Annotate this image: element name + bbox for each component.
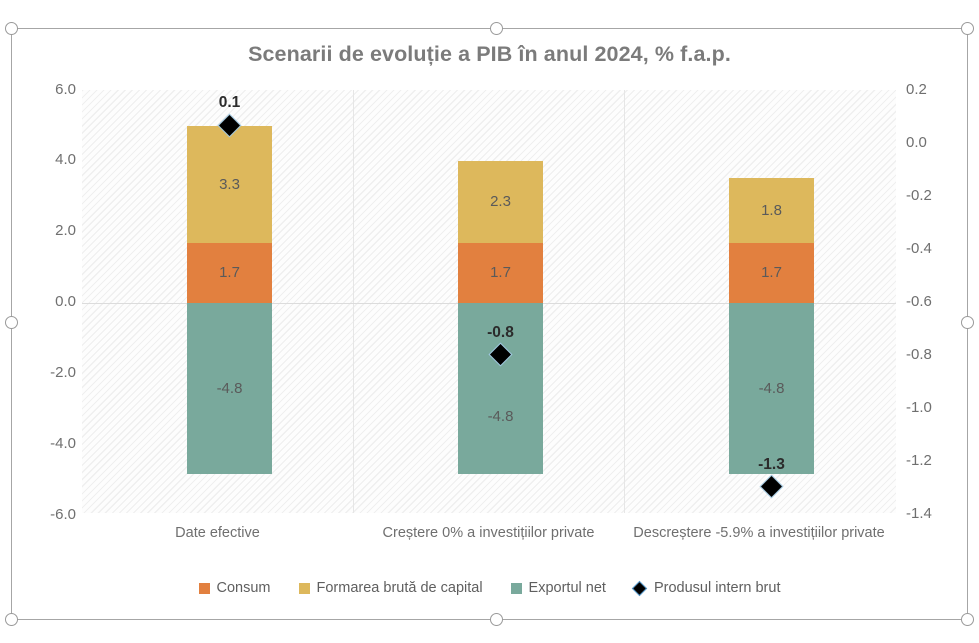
selection-frame[interactable] bbox=[11, 28, 968, 620]
resize-handle-top-right[interactable] bbox=[961, 22, 974, 35]
resize-handle-bottom-center[interactable] bbox=[490, 613, 503, 626]
resize-handle-bottom-right[interactable] bbox=[961, 613, 974, 626]
resize-handle-middle-left[interactable] bbox=[5, 316, 18, 329]
resize-handle-top-left[interactable] bbox=[5, 22, 18, 35]
resize-handle-middle-right[interactable] bbox=[961, 316, 974, 329]
resize-handle-top-center[interactable] bbox=[490, 22, 503, 35]
resize-handle-bottom-left[interactable] bbox=[5, 613, 18, 626]
